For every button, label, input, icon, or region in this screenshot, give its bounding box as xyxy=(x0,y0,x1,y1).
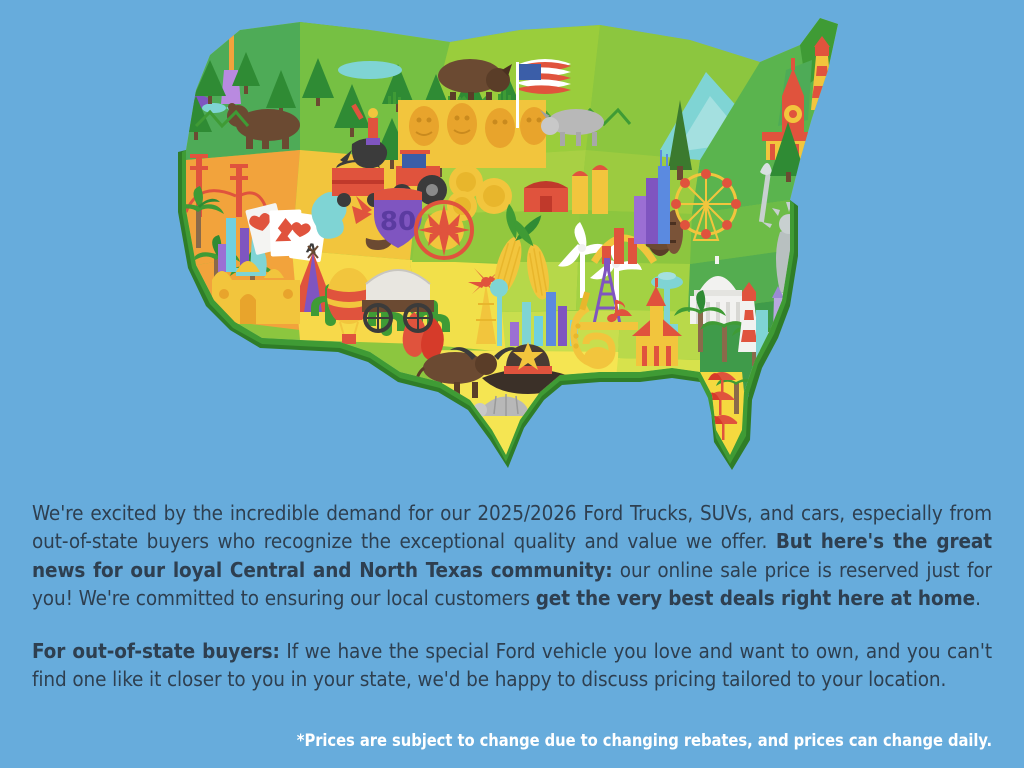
red-barn-icon xyxy=(524,181,568,212)
copy-run-6-bold: For out-of-state buyers: xyxy=(32,639,280,663)
promo-page: A xyxy=(0,0,1024,768)
paragraph-local-buyers: We're excited by the incredible demand f… xyxy=(32,499,992,613)
copy-run-4-bold: get the very best deals right here at ho… xyxy=(536,586,975,610)
compass-rose-icon xyxy=(416,202,472,258)
promo-copy: We're excited by the incredible demand f… xyxy=(32,499,992,693)
usa-map-svg: A xyxy=(0,0,1024,486)
price-disclaimer: *Prices are subject to change due to cha… xyxy=(32,731,992,751)
paragraph-out-of-state-buyers: For out-of-state buyers: If we have the … xyxy=(32,637,992,694)
copy-run-5: . xyxy=(975,586,981,610)
illustrated-usa-map: A xyxy=(0,0,1024,486)
lake-icon xyxy=(338,61,402,79)
svg-text:80: 80 xyxy=(380,207,416,237)
